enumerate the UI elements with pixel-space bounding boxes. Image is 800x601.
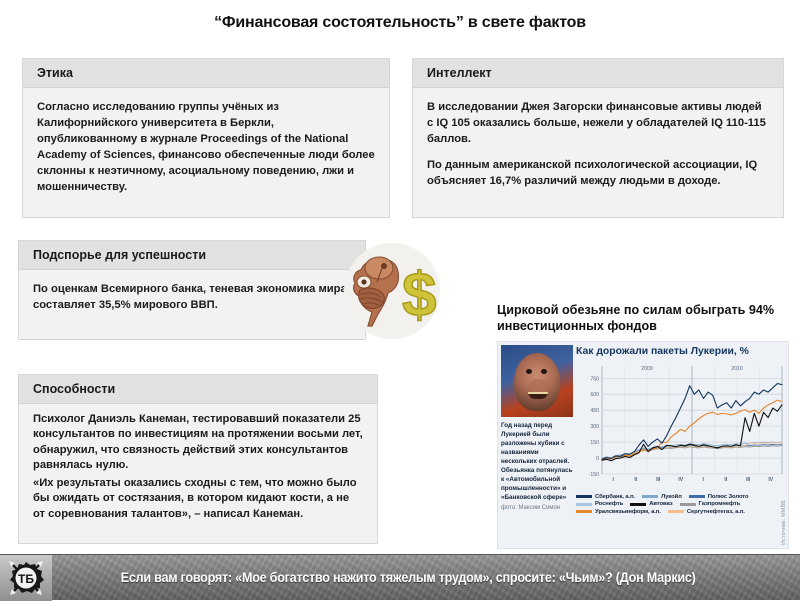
card-abilities-header: Способности (19, 375, 377, 404)
card-abilities-paragraph-1: Психолог Даниэль Канеман, тестировавший … (33, 412, 363, 474)
card-support-body: По оценкам Всемирного банка, теневая эко… (19, 270, 365, 324)
legend-label: Уралсвязьинформ, а.п. (595, 509, 661, 515)
card-intellect-paragraph-1: В исследовании Джея Загорски финансовые … (427, 100, 769, 148)
legend-swatch (689, 495, 705, 498)
brain-dollar-illustration: $ (344, 243, 440, 339)
card-ethics: Этика Согласно исследованию группы учёны… (22, 58, 390, 218)
svg-text:III: III (746, 477, 751, 483)
gear-swords-logo-icon: ТБ (6, 558, 46, 598)
tb-logo-text: ТБ (18, 572, 34, 586)
svg-text:450: 450 (590, 408, 599, 414)
legend-swatch (576, 495, 592, 498)
svg-text:2009: 2009 (641, 366, 653, 372)
legend-row: Сбербанк, а.п.ЛукойлПолюс Золото (576, 494, 784, 500)
svg-text:300: 300 (590, 424, 599, 430)
legend-label: Полюс Золото (708, 494, 749, 500)
card-ethics-paragraph: Согласно исследованию группы учёных из К… (37, 100, 375, 195)
page-title: “Финансовая состоятельность” в свете фак… (0, 14, 800, 32)
legend-item[interactable]: Роснефть (576, 501, 623, 507)
legend-label: Газпромнефть (699, 501, 741, 507)
monkey-photo (501, 345, 573, 417)
legend-label: Роснефть (595, 501, 623, 507)
legend-label: Автоваз (649, 501, 672, 507)
svg-text:2010: 2010 (731, 366, 743, 372)
svg-text:750: 750 (590, 376, 599, 382)
card-intellect: Интеллект В исследовании Джея Загорски ф… (412, 58, 784, 218)
legend-item[interactable]: Лукойл (642, 494, 682, 500)
card-support-header: Подспорье для успешности (19, 241, 365, 270)
chart-source-label: Источник: ММВБ (781, 500, 787, 545)
svg-text:-150: -150 (589, 472, 599, 478)
card-intellect-header: Интеллект (413, 59, 783, 88)
card-intellect-paragraph-2: По данным американской психологической а… (427, 158, 769, 190)
chart-plot-area: 7506004503001500-15020092010IIIIIIIVIIII… (576, 360, 786, 492)
svg-text:IV: IV (768, 477, 773, 483)
chart-legend: Сбербанк, а.п.ЛукойлПолюс ЗолотоРоснефть… (576, 494, 784, 515)
legend-label: Сергутнефтегаз, а.п. (687, 509, 745, 515)
legend-item[interactable]: Сбербанк, а.п. (576, 494, 635, 500)
legend-row: РоснефтьАвтовазГазпромнефть (576, 501, 784, 507)
svg-text:IV: IV (678, 477, 683, 483)
legend-item[interactable]: Автоваз (630, 501, 672, 507)
legend-item[interactable]: Газпромнефть (680, 501, 741, 507)
legend-swatch (680, 503, 696, 506)
card-support-paragraph: По оценкам Всемирного банка, теневая эко… (33, 282, 351, 314)
monkey-headline: Цирковой обезьяне по силам обыграть 94% … (497, 303, 792, 334)
banner-quote: Если вам говорят: «Мое богатство нажито … (74, 570, 777, 585)
legend-label: Лукойл (661, 494, 682, 500)
card-abilities-paragraph-2: «Их результаты оказались сходны с тем, ч… (33, 476, 363, 522)
legend-item[interactable]: Уралсвязьинформ, а.п. (576, 509, 661, 515)
legend-swatch (630, 503, 646, 506)
tb-logo: ТБ (0, 555, 52, 601)
bottom-banner: ТБ Если вам говорят: «Мое богатство нажи… (0, 554, 800, 600)
svg-text:600: 600 (590, 392, 599, 398)
legend-item[interactable]: Полюс Золото (689, 494, 749, 500)
legend-swatch (576, 510, 592, 513)
monkey-photo-caption: Год назад перед Лукерией были разложены … (501, 422, 573, 502)
legend-swatch (642, 495, 658, 498)
chart-title: Как дорожали пакеты Лукерии, % (576, 346, 786, 358)
card-ethics-header: Этика (23, 59, 389, 88)
card-support-for-success: Подспорье для успешности По оценкам Всем… (18, 240, 366, 340)
monkey-photo-credit: фото: Максим Симон (501, 505, 573, 511)
lukeria-chart-block: Год назад перед Лукерией были разложены … (497, 341, 789, 549)
brain-and-dollar-icon: $ (346, 252, 438, 330)
legend-swatch (668, 510, 684, 513)
svg-text:$: $ (402, 261, 436, 330)
svg-text:0: 0 (596, 456, 599, 462)
legend-swatch (576, 503, 592, 506)
card-abilities: Способности Психолог Даниэль Канеман, те… (18, 374, 378, 544)
chart-photo-column: Год назад перед Лукерией были разложены … (501, 345, 573, 545)
legend-label: Сбербанк, а.п. (595, 494, 635, 500)
svg-text:150: 150 (590, 440, 599, 446)
svg-text:III: III (656, 477, 661, 483)
legend-row: Уралсвязьинформ, а.п.Сергутнефтегаз, а.п… (576, 509, 784, 515)
chart-column: Как дорожали пакеты Лукерии, % 750600450… (576, 346, 786, 546)
card-ethics-body: Согласно исследованию группы учёных из К… (23, 88, 389, 205)
card-abilities-body: Психолог Даниэль Канеман, тестировавший … (19, 404, 377, 532)
legend-item[interactable]: Сергутнефтегаз, а.п. (668, 509, 745, 515)
card-intellect-body: В исследовании Джея Загорски финансовые … (413, 88, 783, 200)
chart-svg: 7506004503001500-15020092010IIIIIIIVIIII… (576, 360, 786, 492)
